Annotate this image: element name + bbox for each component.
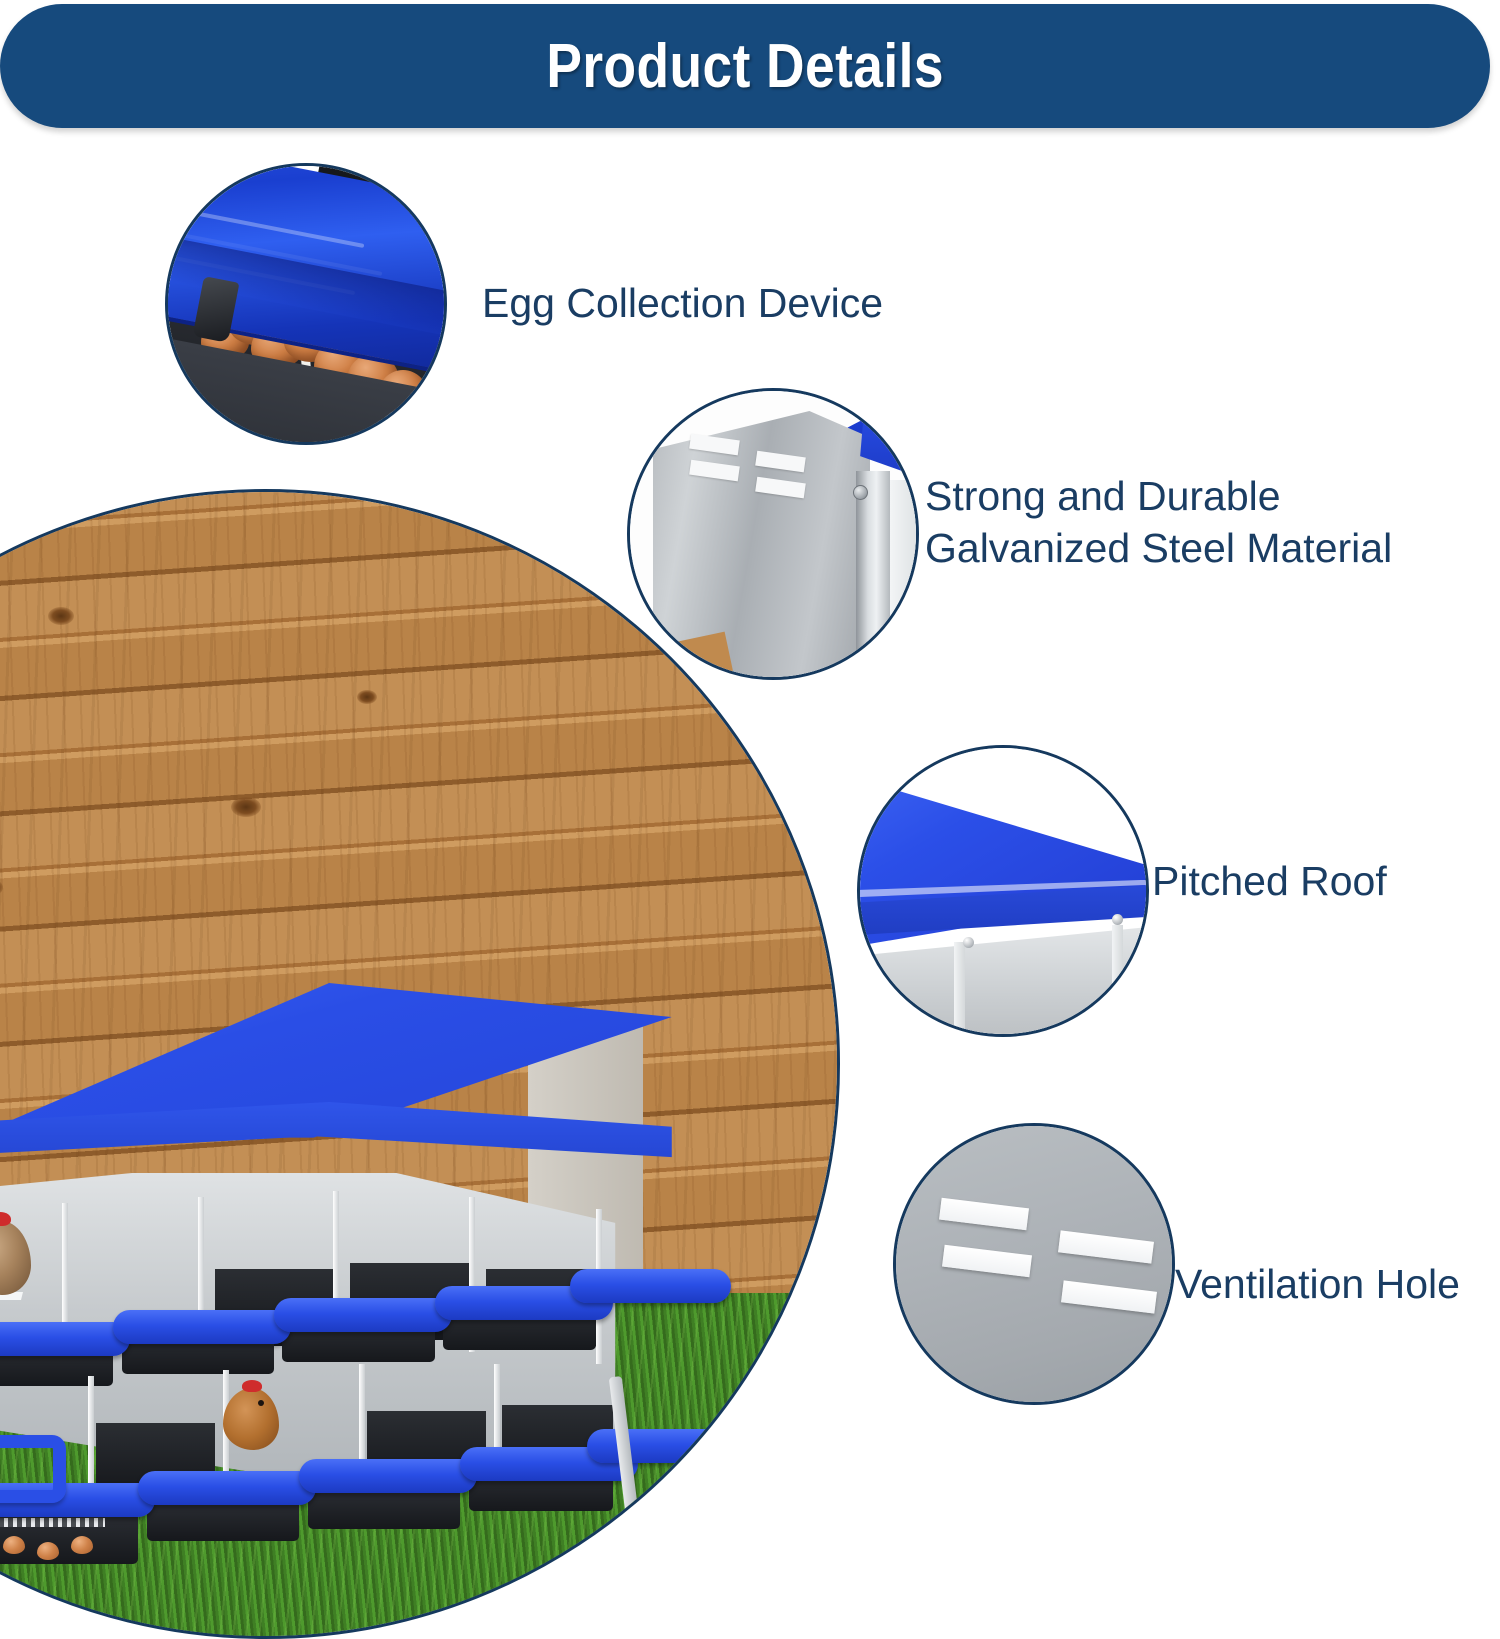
ventilation-slot (942, 1245, 1032, 1278)
wood-knot (231, 797, 261, 817)
egg-tray-grate (0, 1518, 105, 1527)
ventilation-hole-photo (896, 1126, 1172, 1402)
callout-image-egg-collection (165, 163, 447, 445)
egg-tray-handle[interactable] (0, 1435, 66, 1503)
hen-eye (258, 1400, 264, 1406)
egg-collection-photo (168, 166, 444, 442)
blue-perch-rail (274, 1298, 452, 1332)
callout-image-ventilation-hole (893, 1123, 1175, 1405)
pitched-roof-photo (860, 748, 1146, 1034)
blue-perch-rail (570, 1269, 731, 1303)
hen-comb (242, 1380, 262, 1392)
egg (37, 1542, 59, 1560)
callout-label-line-1: Strong and Durable (925, 470, 1485, 522)
blue-perch-rail (138, 1471, 316, 1505)
callout-label-pitched-roof: Pitched Roof (1152, 855, 1387, 907)
egg (3, 1536, 25, 1554)
callout-image-pitched-roof (857, 745, 1149, 1037)
rear-post (890, 480, 916, 680)
blue-perch-rail (0, 1322, 130, 1356)
product-scene (0, 492, 837, 1636)
product-details-banner: Product Details (0, 4, 1490, 128)
wall-post (1112, 925, 1123, 1037)
wood-knot (357, 690, 377, 704)
ventilation-slot (1058, 1231, 1154, 1264)
ventilation-slot (939, 1198, 1029, 1231)
blue-perch-rail (587, 1429, 739, 1463)
steel-wall (857, 925, 1149, 1037)
page-title: Product Details (546, 31, 944, 102)
callout-label-line-2: Galvanized Steel Material (925, 522, 1485, 574)
blue-perch-rail (113, 1310, 291, 1344)
ventilation-slot (1061, 1280, 1157, 1313)
callout-label-galvanized-steel: Strong and Durable Galvanized Steel Mate… (925, 470, 1485, 575)
wall-post (954, 942, 965, 1037)
callout-label-ventilation-hole: Ventilation Hole (1175, 1258, 1460, 1310)
roof-rivet (963, 937, 974, 948)
wood-knot (48, 607, 74, 625)
main-product-photo (0, 489, 840, 1639)
callout-label-egg-collection: Egg Collection Device (482, 277, 883, 329)
corner-post (856, 471, 890, 680)
blue-perch-rail (299, 1459, 477, 1493)
egg (71, 1536, 93, 1554)
roof-rivet (1112, 914, 1123, 925)
chicken-nesting-box (0, 1007, 723, 1602)
